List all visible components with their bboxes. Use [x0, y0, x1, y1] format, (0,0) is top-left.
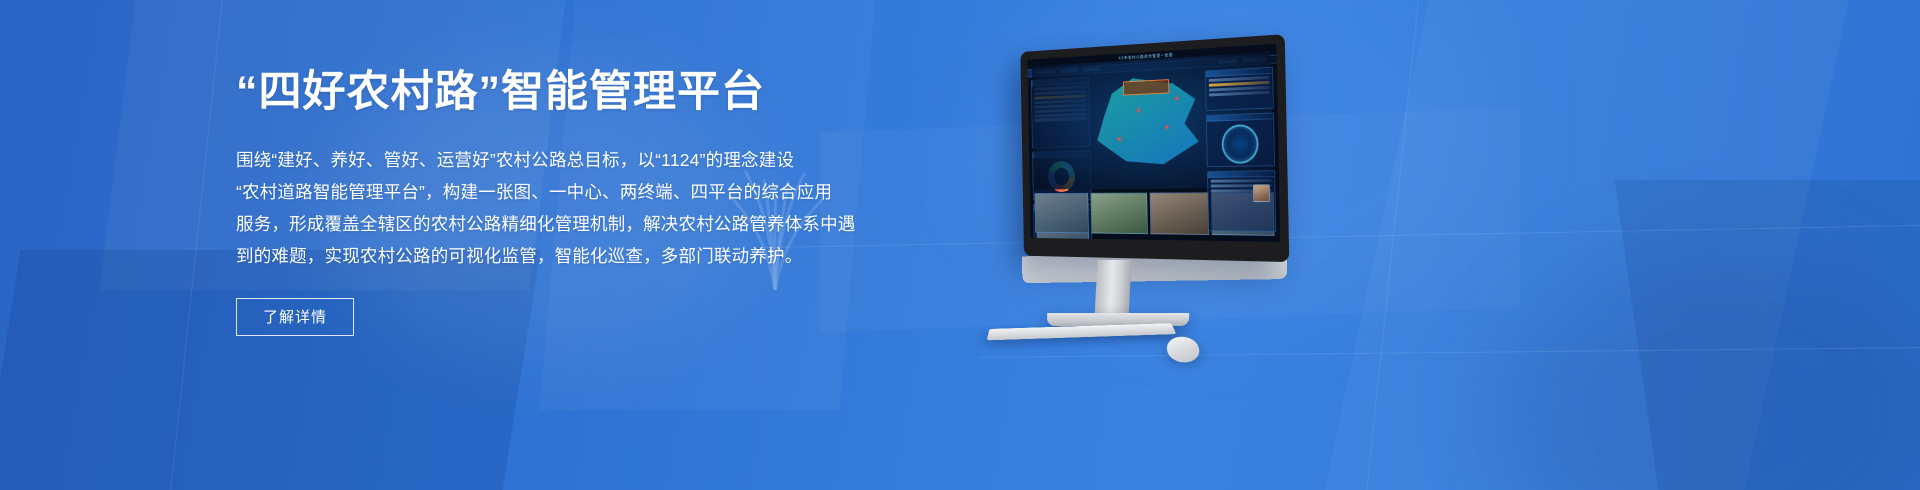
card-header	[1208, 171, 1274, 178]
hero-banner: “四好农村路”智能管理平台 围绕“建好、养好、管好、运营好”农村公路总目标，以“…	[0, 0, 1920, 490]
dashboard-screen: XX市农村公路综合管理一张图	[1027, 44, 1280, 242]
dashboard-right-column	[1205, 67, 1276, 238]
map-pin[interactable]	[1137, 109, 1140, 112]
map-pin[interactable]	[1166, 126, 1169, 129]
description-line-1: 围绕“建好、养好、管好、运营好”农村公路总目标，以“1124”的理念建设	[236, 144, 856, 176]
camera-thumbnail[interactable]	[1149, 192, 1209, 235]
cta-container: 了解详情	[236, 298, 856, 336]
card-header	[1207, 113, 1273, 121]
learn-more-button[interactable]: 了解详情	[236, 298, 354, 336]
hero-description: 围绕“建好、养好、管好、运营好”农村公路总目标，以“1124”的理念建设 “农村…	[236, 144, 856, 272]
map-pin[interactable]	[1175, 97, 1178, 100]
camera-thumbnail[interactable]	[1034, 193, 1088, 233]
mouse[interactable]	[1165, 336, 1202, 364]
page-title: “四好农村路”智能管理平台	[236, 66, 856, 118]
avatar	[1253, 184, 1270, 202]
alert-popup[interactable]	[1123, 79, 1169, 95]
description-line-2: “农村道路智能管理平台”，构建一张图、一中心、两终端、四平台的综合应用	[236, 176, 856, 208]
desktop-computer-illustration: XX市农村公路综合管理一张图	[955, 34, 1355, 374]
map-pin[interactable]	[1119, 138, 1122, 141]
keyboard[interactable]	[987, 323, 1177, 340]
monitor-bezel: XX市农村公路综合管理一张图	[1020, 34, 1289, 262]
description-line-3: 服务，形成覆盖全辖区的农村公路精细化管理机制，解决农村公路管养体系中遇	[236, 208, 856, 240]
info-row	[1211, 179, 1272, 183]
stat-row	[1209, 90, 1270, 96]
camera-thumbnail[interactable]	[1090, 193, 1147, 235]
circular-gauge	[1221, 124, 1259, 164]
monitor-stand-neck	[1094, 260, 1131, 318]
gauge-card[interactable]	[1206, 112, 1275, 167]
description-line-4: 到的难题，实现农村公路的可视化监管，智能化巡查，多部门联动养护。	[236, 240, 856, 272]
hero-content: “四好农村路”智能管理平台 围绕“建好、养好、管好、运营好”农村公路总目标，以“…	[236, 66, 856, 336]
right-stat-card-1[interactable]	[1205, 67, 1274, 111]
